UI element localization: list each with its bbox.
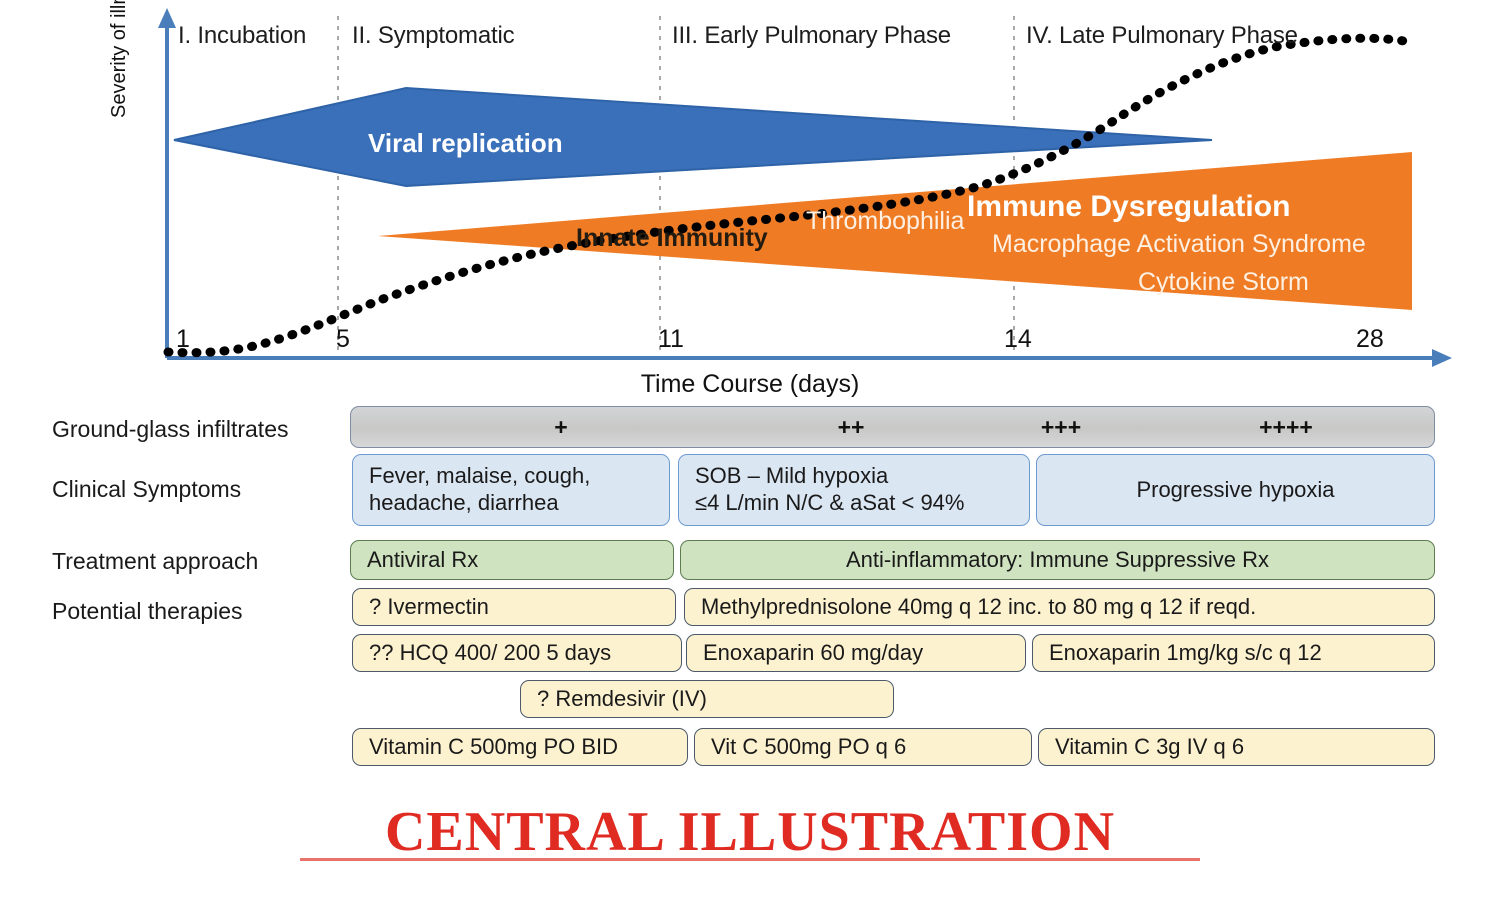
phase-label-incubation: I. Incubation — [178, 22, 306, 50]
potential-therapy-remdesivir: ? Remdesivir (IV) — [520, 680, 894, 718]
row-label-ground-glass-infiltrates: Ground-glass infiltrates — [52, 416, 289, 443]
potential-therapy-vit-c-po-q6: Vit C 500mg PO q 6 — [694, 728, 1032, 766]
potential-therapy-enoxaparin-1mgkg: Enoxaparin 1mg/kg s/c q 12 — [1032, 634, 1435, 672]
x-axis-label: Time Course (days) — [0, 370, 1500, 399]
severity-timeline-chart: I. Incubation II. Symptomatic III. Early… — [0, 0, 1500, 400]
phase-label-early-pulmonary: III. Early Pulmonary Phase — [672, 22, 951, 50]
potential-therapy-enoxaparin-60: Enoxaparin 60 mg/day — [686, 634, 1026, 672]
row-label-clinical-symptoms: Clinical Symptoms — [52, 476, 241, 503]
clinical-symptoms-cell-1: Fever, malaise, cough, headache, diarrhe… — [352, 454, 670, 526]
phase-label-late-pulmonary: IV. Late Pulmonary Phase — [1026, 22, 1298, 50]
treatment-approach-cell-1: Antiviral Rx — [350, 540, 674, 580]
viral-replication-shape — [174, 88, 1212, 186]
x-tick-5: 5 — [336, 325, 350, 354]
row-label-treatment-approach: Treatment approach — [52, 548, 258, 575]
treatment-approach-cell-2: Anti-inflammatory: Immune Suppressive Rx — [680, 540, 1435, 580]
potential-therapy-vitamin-c-po-bid: Vitamin C 500mg PO BID — [352, 728, 688, 766]
ground-glass-bar: + ++ +++ ++++ — [350, 406, 1435, 448]
row-label-potential-therapies: Potential therapies — [52, 598, 243, 625]
x-tick-28: 28 — [1356, 325, 1384, 354]
x-tick-1: 1 — [176, 325, 190, 354]
phase-gridlines — [338, 16, 1014, 356]
page-title: CENTRAL ILLUSTRATION — [0, 800, 1500, 864]
chart-svg — [0, 0, 1500, 400]
ground-glass-mark-1: + — [351, 407, 771, 447]
potential-therapy-methylprednisolone: Methylprednisolone 40mg q 12 inc. to 80 … — [684, 588, 1435, 626]
x-tick-14: 14 — [1004, 325, 1032, 354]
phase-label-symptomatic: II. Symptomatic — [352, 22, 514, 50]
x-axis-arrowhead — [1432, 349, 1452, 367]
potential-therapy-ivermectin: ? Ivermectin — [352, 588, 676, 626]
potential-therapy-hcq: ?? HCQ 400/ 200 5 days — [352, 634, 682, 672]
clinical-stage-table: Ground-glass infiltrates Clinical Sympto… — [0, 398, 1500, 778]
y-axis-arrowhead — [158, 8, 176, 28]
ground-glass-mark-4: ++++ — [1141, 407, 1431, 447]
potential-therapy-vitamin-c-iv-q6: Vitamin C 3g IV q 6 — [1038, 728, 1435, 766]
clinical-symptoms-cell-3: Progressive hypoxia — [1036, 454, 1435, 526]
clinical-symptoms-cell-2: SOB – Mild hypoxia ≤4 L/min N/C & aSat <… — [678, 454, 1030, 526]
x-tick-11: 11 — [658, 325, 684, 354]
y-axis-label: Severity of illness — [108, 0, 131, 118]
title-underline — [300, 858, 1200, 861]
